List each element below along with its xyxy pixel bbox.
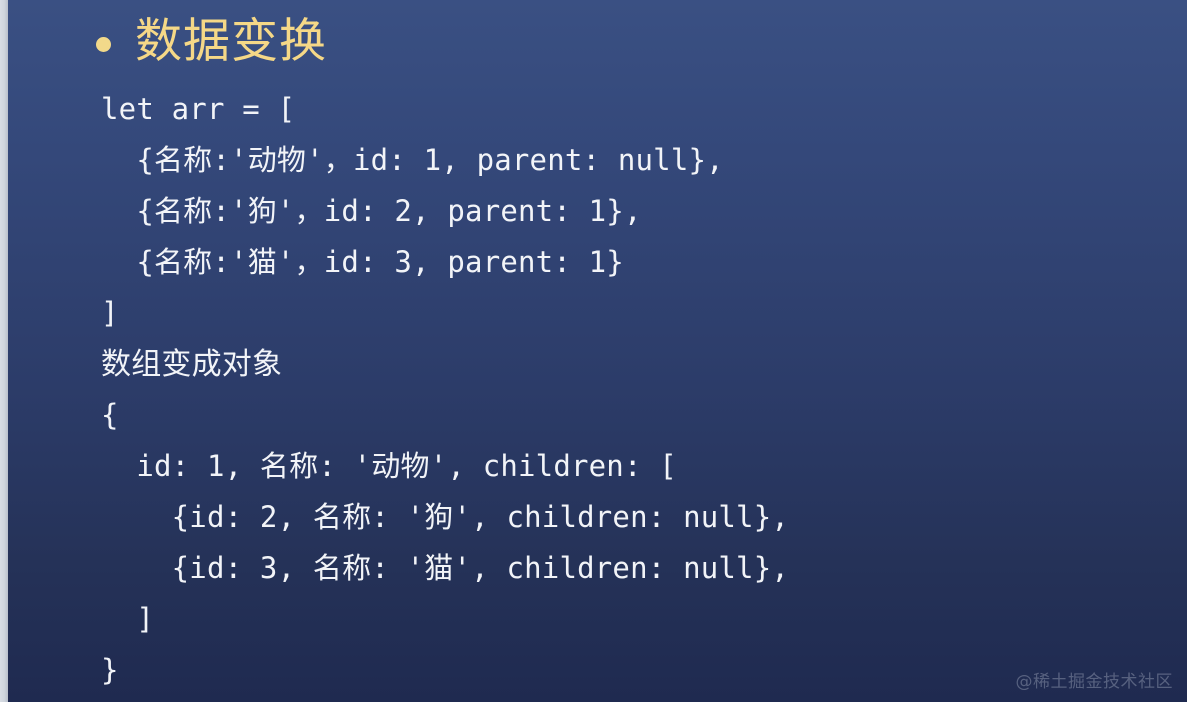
left-edge-strip [0,0,8,702]
code-line: {id: 2, 名称: '狗', children: null}, [101,492,1161,543]
slide-title-row: 数据变换 [96,8,327,74]
code-line: {名称:'狗'，id: 2, parent: 1}, [101,186,1161,237]
slide-canvas: 数据变换 let arr = [ {名称:'动物'，id: 1, parent:… [0,0,1187,702]
bullet-dot-icon [96,37,111,52]
code-line: { [101,390,1161,441]
code-line: 数组变成对象 [101,339,1161,390]
code-line: {名称:'动物'，id: 1, parent: null}, [101,135,1161,186]
code-line: {名称:'猫'，id: 3, parent: 1} [101,237,1161,288]
code-line: {id: 3, 名称: '猫', children: null}, [101,543,1161,594]
code-line: let arr = [ [101,84,1161,135]
code-line: ] [101,594,1161,645]
page-title: 数据变换 [135,18,327,65]
watermark-label: @稀土掘金技术社区 [1016,667,1174,692]
code-line: } [101,645,1161,696]
code-line: ] [101,288,1161,339]
code-block: let arr = [ {名称:'动物'，id: 1, parent: null… [101,84,1161,696]
code-line: id: 1, 名称: '动物', children: [ [101,441,1161,492]
